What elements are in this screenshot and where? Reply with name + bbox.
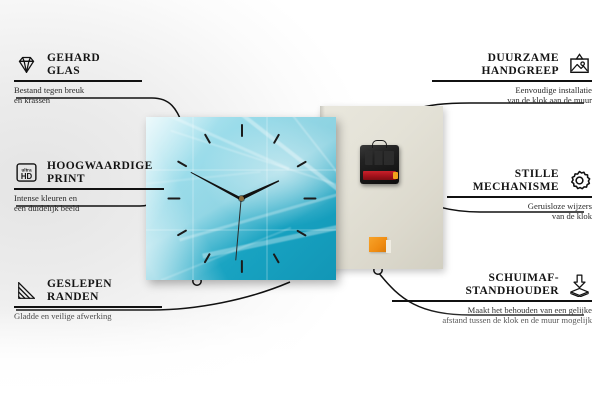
callout-rule <box>392 300 592 301</box>
callout-hoogwaardige-print: ultra HD HOOGWAARDIGE PRINT Intense kleu… <box>14 160 164 213</box>
foam-spacer-pad <box>369 237 387 252</box>
callout-geslepen-randen: GESLEPEN RANDEN Gladde en veilige afwerk… <box>14 278 162 321</box>
diamond-icon <box>14 52 39 77</box>
infographic-canvas: GEHARD GLAS Bestand tegen breuk en krass… <box>0 0 600 400</box>
ultra-hd-icon: ultra HD <box>14 160 39 185</box>
beveled-edge-icon <box>14 278 39 303</box>
callout-title: GEHARD <box>47 52 100 65</box>
clock-center-pivot <box>239 196 244 201</box>
gear-icon <box>567 168 592 193</box>
callout-title-2: RANDEN <box>47 291 112 304</box>
mechanism-hook <box>372 140 387 148</box>
callout-title: DUURZAME <box>481 52 559 65</box>
callout-title-2: PRINT <box>47 173 153 186</box>
callout-subtitle: Bestand tegen breuk <box>14 85 142 95</box>
callout-title: GESLEPEN <box>47 278 112 291</box>
callout-title-2: STANDHOUDER <box>465 285 559 298</box>
clock-backplate <box>320 106 443 269</box>
clock-face <box>146 117 336 280</box>
callout-subtitle: Geruisloze wijzers <box>447 201 592 211</box>
callout-title: HOOGWAARDIGE <box>47 160 153 173</box>
callout-title: STILLE <box>473 168 559 181</box>
mechanism-slots <box>365 151 394 165</box>
callout-title: SCHUIMAF- <box>465 272 559 285</box>
callout-subtitle-2: van de klok <box>447 211 592 221</box>
callout-subtitle: Eenvoudige installatie <box>432 85 592 95</box>
callout-title-2: MECHANISME <box>473 181 559 194</box>
clock-mechanism <box>360 145 399 184</box>
battery <box>363 171 396 180</box>
callout-subtitle: Maakt het behouden van een gelijke <box>392 305 592 315</box>
clock-hour-hand <box>240 178 280 200</box>
callout-subtitle-2: van de klok aan de muur <box>432 95 592 105</box>
callout-rule <box>14 306 162 307</box>
callout-subtitle-2: afstand tussen de klok en de muur mogeli… <box>392 315 592 325</box>
framed-picture-hanging-icon <box>567 52 592 77</box>
callout-subtitle: Intense kleuren en <box>14 193 164 203</box>
callout-subtitle-2: een duidelijk beeld <box>14 203 164 213</box>
callout-title-2: GLAS <box>47 65 100 78</box>
callout-rule <box>14 80 142 81</box>
callout-subtitle-2: en krassen <box>14 95 142 105</box>
callout-gehard-glas: GEHARD GLAS Bestand tegen breuk en krass… <box>14 52 142 105</box>
svg-text:HD: HD <box>21 172 33 181</box>
callout-stille-mechanisme: STILLE MECHANISME Geruisloze wijzers van… <box>447 168 592 221</box>
down-arrow-onto-pad-icon <box>567 272 592 297</box>
product-photo <box>143 103 443 283</box>
callout-schuimafstandhouder: SCHUIMAF- STANDHOUDER Maakt het behouden… <box>392 272 592 325</box>
callout-rule <box>432 80 592 81</box>
callout-rule <box>14 188 164 189</box>
callout-rule <box>447 196 592 197</box>
callout-title-2: HANDGREEP <box>481 65 559 78</box>
callout-subtitle: Gladde en veilige afwerking <box>14 311 162 321</box>
callout-duurzame-handgreep: DUURZAME HANDGREEP Eenvoudige installati… <box>432 52 592 105</box>
